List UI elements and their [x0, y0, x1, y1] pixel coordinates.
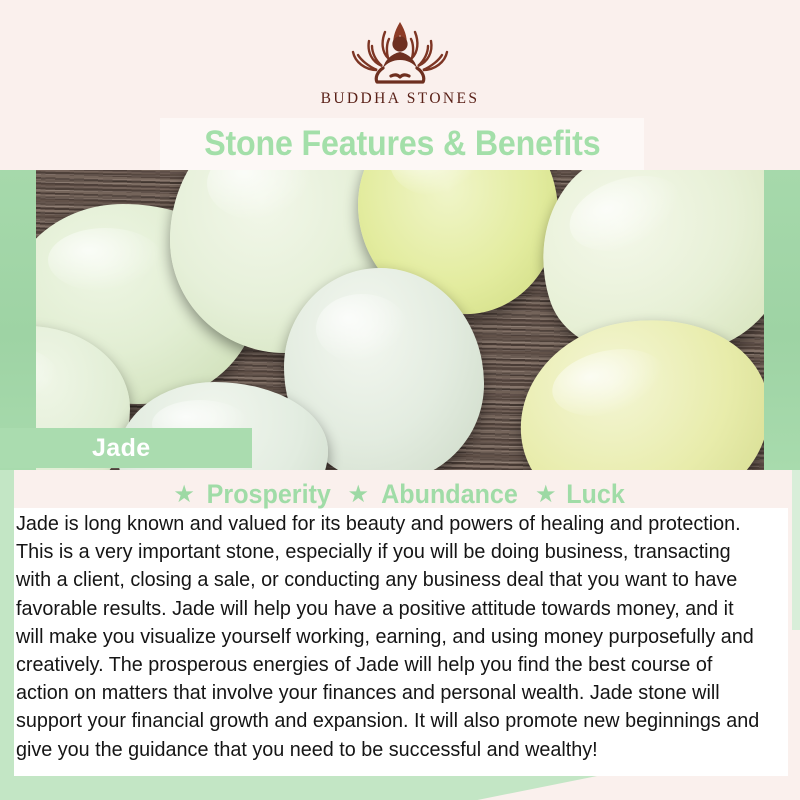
page-title: Stone Features & Benefits	[204, 124, 600, 164]
benefits-row: ★ Prosperity ★ Abundance ★ Luck	[0, 479, 800, 510]
benefit-label: Prosperity	[207, 479, 331, 510]
benefit-label: Luck	[566, 479, 625, 510]
brand-name: BUDDHA STONES	[321, 90, 480, 108]
benefit-item: ★ Abundance	[348, 479, 524, 510]
brand-logo: BUDDHA STONES	[0, 16, 800, 116]
lotus-meditation-icon	[325, 16, 475, 88]
stone-name-bar: Jade	[0, 428, 252, 468]
bottom-accent-band	[0, 773, 612, 800]
benefit-item: ★ Prosperity	[173, 479, 335, 510]
stone-photo	[0, 170, 800, 470]
title-banner: Stone Features & Benefits	[160, 118, 644, 170]
description-text: Jade is long known and valued for its be…	[16, 510, 765, 764]
star-icon: ★	[535, 483, 557, 507]
benefit-item: ★ Luck	[535, 479, 627, 510]
benefit-label: Abundance	[381, 479, 518, 510]
stone-name-label: Jade	[92, 434, 151, 463]
photo-accent-bar-left	[0, 170, 36, 470]
star-icon: ★	[348, 483, 370, 507]
infographic-page: BUDDHA STONES Stone Features & Benefits …	[0, 0, 800, 800]
left-accent-bar	[0, 470, 14, 800]
star-icon: ★	[173, 483, 195, 507]
photo-accent-bar-right	[764, 170, 800, 470]
